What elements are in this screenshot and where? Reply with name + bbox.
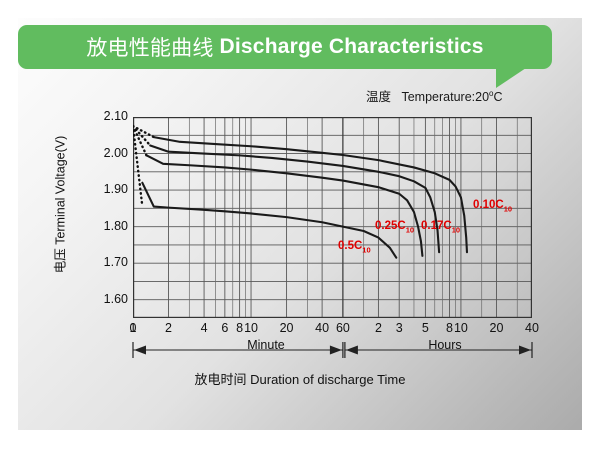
x-tick-label-min-40: 40 <box>315 321 329 335</box>
range-arrows <box>0 340 600 360</box>
x-tick-label-hr-3: 3 <box>396 321 403 335</box>
y-tick-label: 1.90 <box>88 182 128 196</box>
banner-title-en: Discharge Characteristics <box>220 35 484 59</box>
y-tick-label: 2.10 <box>88 109 128 123</box>
banner-title: 放电性能曲线 Discharge Characteristics <box>18 25 552 69</box>
x-tick-label-hr-2: 2 <box>375 321 382 335</box>
curve-label-subscript: 10 <box>406 225 414 234</box>
curve-label-0.17C10: 0.17C10 <box>421 220 460 234</box>
x-tick-label-min-10: 10 <box>244 321 258 335</box>
curve-label-0.10C10: 0.10C10 <box>473 199 512 213</box>
range-label-hours: Hours <box>423 338 466 352</box>
x-tick-label-min-6: 6 <box>221 321 228 335</box>
x-tick-label-hr-10: 10 <box>454 321 468 335</box>
x-tick-label-min-8: 8 <box>236 321 243 335</box>
temperature-note: 温度 Temperature:20oC <box>366 86 503 105</box>
curve-label-subscript: 10 <box>452 225 460 234</box>
x-tick-label-hr-20: 20 <box>490 321 504 335</box>
x-axis-title: 放电时间 Duration of discharge Time <box>0 369 600 388</box>
temperature-label-cn: 温度 <box>366 90 391 104</box>
banner-tail-icon <box>496 68 526 88</box>
range-label-minute: Minute <box>242 338 290 352</box>
y-axis-title: 电压 Terminal Voltage(V) <box>50 115 69 295</box>
x-tick-label-min-2: 2 <box>165 321 172 335</box>
temperature-value: Temperature:20 <box>401 90 489 104</box>
y-tick-label: 1.60 <box>88 292 128 306</box>
curve-label-subscript: 10 <box>504 204 512 213</box>
minute-range-arrow <box>133 342 343 358</box>
curve-label-0.25C10: 0.25C10 <box>375 220 414 234</box>
curve-label-text: 0.25C <box>375 220 406 232</box>
plot-svg <box>133 117 532 318</box>
x-tick-label-min-20: 20 <box>280 321 294 335</box>
x-tick-label-min-4: 4 <box>201 321 208 335</box>
curve-label-text: 0.10C <box>473 199 504 211</box>
banner-title-cn: 放电性能曲线 <box>86 32 219 62</box>
curve-0.17C10 <box>150 146 439 253</box>
discharge-characteristics-figure: 放电性能曲线 Discharge Characteristics 温度 Temp… <box>0 0 600 451</box>
curve-label-0.5C10: 0.5C10 <box>338 240 371 254</box>
x-tick-label-min-60: 60 <box>336 321 350 335</box>
x-tick-label-hr-5: 5 <box>422 321 429 335</box>
curve-label-subscript: 10 <box>362 245 370 254</box>
curve-label-text: 0.5C <box>338 240 362 252</box>
y-tick-label: 1.80 <box>88 219 128 233</box>
plot-area <box>133 117 532 318</box>
x-tick-label-hr-8: 8 <box>446 321 453 335</box>
y-tick-label: 1.70 <box>88 255 128 269</box>
curve-label-text: 0.17C <box>421 220 452 232</box>
x-tick-label-min-1: 1 <box>130 321 137 335</box>
y-tick-label: 2.00 <box>88 146 128 160</box>
temperature-unit: C <box>493 90 502 104</box>
x-tick-label-hr-40: 40 <box>525 321 539 335</box>
